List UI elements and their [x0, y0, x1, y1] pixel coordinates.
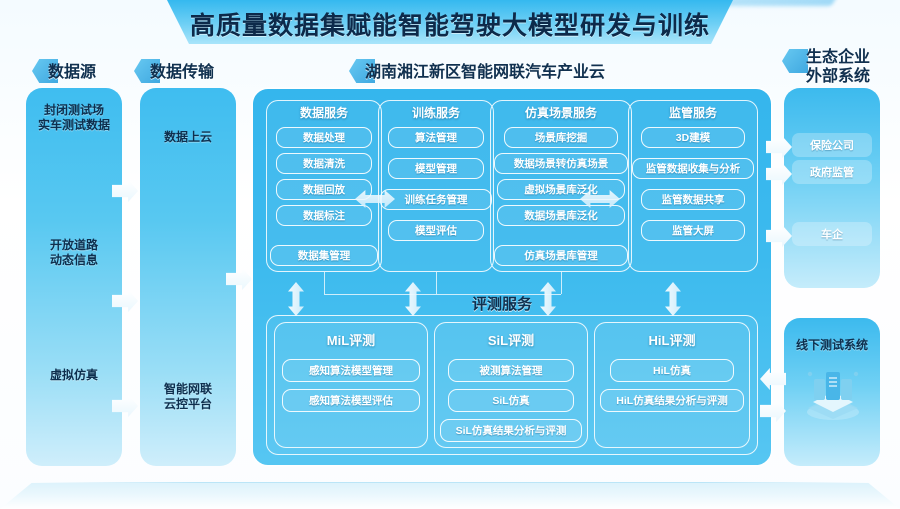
data-source-item-0-label: 封闭测试场 实车测试数据 [26, 103, 122, 133]
data-transmission-item-0-label: 数据上云 [140, 130, 236, 145]
data-center-icon [798, 362, 868, 424]
service-item-data-1[interactable]: 数据清洗 [276, 153, 372, 174]
service-item-simulation-1[interactable]: 数据场景转仿真场景 [494, 153, 628, 174]
section-header-external: 生态企业 外部系统 [786, 48, 890, 86]
offline-test-system-label: 线下测试系统 [784, 338, 880, 353]
service-item-training-1[interactable]: 模型管理 [388, 158, 484, 179]
section-header-data-transmission: 数据传输 [150, 58, 214, 82]
page-title: 高质量数据集赋能智能驾驶大模型研发与训练 [0, 6, 900, 42]
service-title-supervision: 监管服务 [628, 104, 758, 121]
connector-training-down [436, 272, 437, 294]
section-header-evaluation: 评测服务 [472, 293, 532, 314]
service-item-data-4[interactable]: 数据集管理 [270, 245, 378, 266]
data-source-item-1-label: 开放道路 动态信息 [26, 238, 122, 268]
eval-item-sil-0[interactable]: 被测算法管理 [448, 359, 574, 382]
hexagon-badge-icon [782, 49, 808, 73]
service-item-training-3[interactable]: 模型评估 [388, 220, 484, 241]
service-item-supervision-2[interactable]: 监管数据共享 [641, 189, 745, 210]
eval-title-sil: SiL评测 [434, 330, 588, 349]
service-item-training-0[interactable]: 算法管理 [388, 127, 484, 148]
connector-data-down [324, 272, 325, 294]
eval-title-mil: MiL评测 [274, 330, 428, 349]
data-source-item-2-label: 虚拟仿真 [26, 368, 122, 383]
service-item-simulation-4[interactable]: 仿真场景库管理 [494, 245, 628, 266]
eval-item-sil-2[interactable]: SiL仿真结果分析与评测 [440, 419, 582, 442]
eval-item-hil-1[interactable]: HiL仿真结果分析与评测 [600, 389, 744, 412]
section-header-data-source: 数据源 [48, 58, 96, 82]
eval-item-mil-0[interactable]: 感知算法模型管理 [282, 359, 420, 382]
external-item-automaker[interactable]: 车企 [792, 222, 872, 246]
external-item-insurance[interactable]: 保险公司 [792, 133, 872, 157]
panel-external-systems [784, 88, 880, 288]
eval-item-sil-1[interactable]: SiL仿真 [448, 389, 574, 412]
service-title-data: 数据服务 [266, 104, 382, 121]
external-item-government[interactable]: 政府监管 [792, 160, 872, 184]
section-header-center: 湖南湘江新区智能网联汽车产业云 [365, 58, 605, 82]
eval-item-hil-0[interactable]: HiL仿真 [610, 359, 734, 382]
service-item-simulation-0[interactable]: 场景库挖掘 [504, 127, 618, 148]
service-item-data-0[interactable]: 数据处理 [276, 127, 372, 148]
data-transmission-item-1-label: 智能网联 云控平台 [140, 382, 236, 412]
service-title-training: 训练服务 [378, 104, 494, 121]
eval-title-hil: HiL评测 [594, 330, 750, 349]
panel-data-source [26, 88, 122, 466]
service-item-data-3[interactable]: 数据标注 [276, 205, 372, 226]
connector-simulation-down [561, 272, 562, 294]
bottom-shelf [0, 475, 900, 509]
service-title-simulation: 仿真场景服务 [490, 104, 632, 121]
eval-item-mil-1[interactable]: 感知算法模型评估 [282, 389, 420, 412]
service-item-supervision-3[interactable]: 监管大屏 [641, 220, 745, 241]
service-item-supervision-1[interactable]: 监管数据收集与分析 [632, 158, 754, 179]
service-item-training-2[interactable]: 训练任务管理 [380, 189, 492, 210]
service-card-training [378, 100, 494, 272]
service-item-simulation-3[interactable]: 数据场景库泛化 [497, 205, 625, 226]
service-card-supervision [628, 100, 758, 272]
service-item-supervision-0[interactable]: 3D建模 [641, 127, 745, 148]
